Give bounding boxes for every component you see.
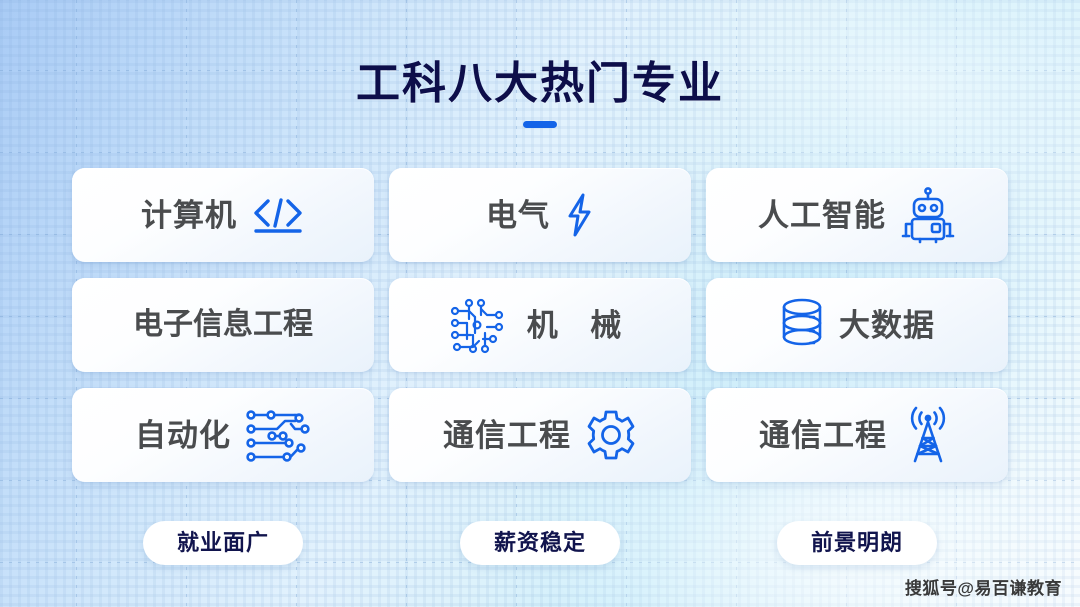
major-card-label: 大数据: [839, 310, 935, 341]
major-card-communication-engineering-2[interactable]: 通信工程: [706, 388, 1008, 482]
benefit-pill-cell: 就业面广: [72, 521, 374, 565]
major-card-label: 电子信息工程: [133, 310, 313, 340]
grid-hline: [0, 152, 1080, 153]
major-card-electronic-information-engineering[interactable]: 电子信息工程: [72, 278, 374, 372]
poster-canvas: 工科八大热门专业 计算机 电气: [0, 0, 1080, 607]
major-card-computer[interactable]: 计算机: [72, 168, 374, 262]
major-card-automation[interactable]: 自动化: [72, 388, 374, 482]
code-icon: [251, 195, 305, 235]
benefit-pill-cell: 薪资稳定: [389, 521, 691, 565]
major-card-label: 电气: [486, 200, 550, 231]
signal-tower-icon: [901, 406, 955, 464]
benefit-pill-salary[interactable]: 薪资稳定: [460, 521, 620, 565]
benefit-pill-prospects[interactable]: 前景明朗: [777, 521, 937, 565]
database-icon: [779, 297, 825, 353]
major-card-label: 机 械: [521, 310, 634, 341]
page-title: 工科八大热门专业: [356, 62, 724, 106]
major-card-label: 通信工程: [443, 420, 571, 451]
major-card-label: 通信工程: [759, 420, 887, 451]
major-card-ai[interactable]: 人工智能: [706, 168, 1008, 262]
major-card-electrical[interactable]: 电气: [389, 168, 691, 262]
circuit-chip-icon: [447, 295, 507, 355]
title-underline-accent: [523, 121, 557, 128]
major-card-label: 人工智能: [758, 200, 886, 231]
major-card-grid: 计算机 电气 人工智能: [72, 168, 1008, 482]
major-card-mechanical[interactable]: 机 械: [389, 278, 691, 372]
watermark: 搜狐号@易百谦教育: [905, 574, 1062, 599]
major-card-communication-engineering-1[interactable]: 通信工程: [389, 388, 691, 482]
major-card-label: 计算机: [141, 200, 237, 231]
title-block: 工科八大热门专业: [0, 62, 1080, 128]
lightning-bolt-icon: [564, 192, 594, 238]
circuit-nodes-icon: [245, 406, 311, 464]
benefit-pill-employment[interactable]: 就业面广: [143, 521, 303, 565]
benefit-pill-row: 就业面广 薪资稳定 前景明朗: [72, 521, 1008, 565]
major-card-label: 自动化: [135, 420, 231, 451]
gear-icon: [585, 409, 637, 461]
major-card-bigdata[interactable]: 大数据: [706, 278, 1008, 372]
benefit-pill-cell: 前景明朗: [706, 521, 1008, 565]
robot-icon: [900, 186, 956, 244]
